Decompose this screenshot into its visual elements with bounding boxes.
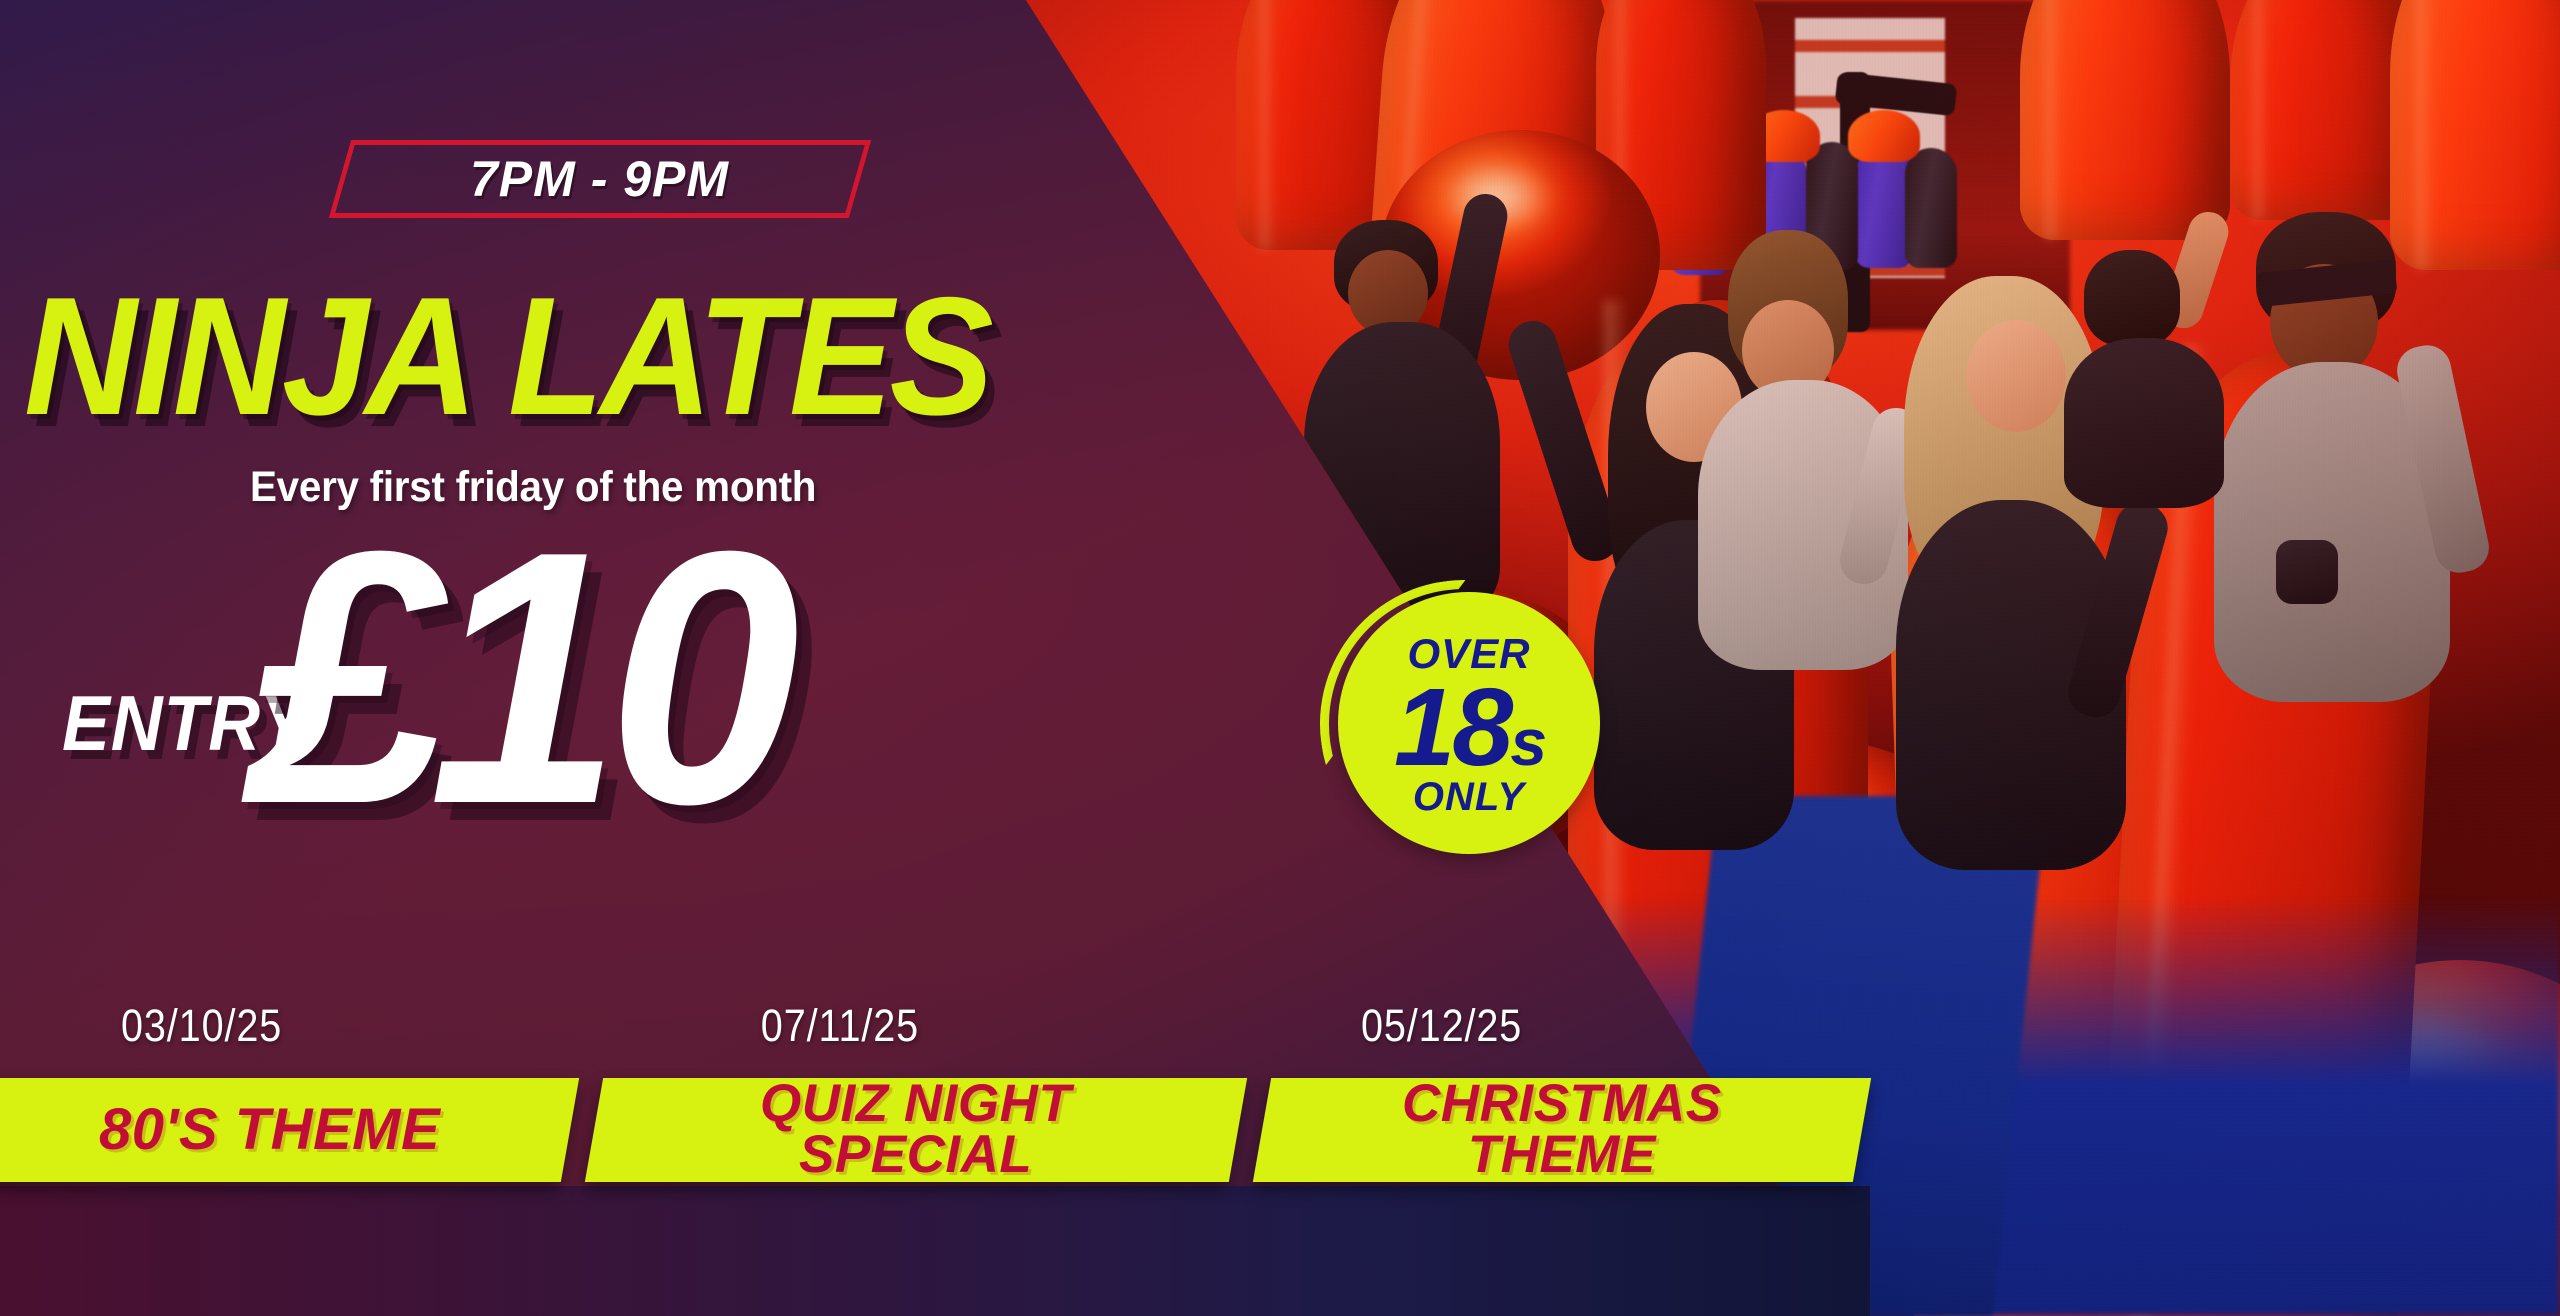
page-title: NINJA LATES: [24, 272, 990, 440]
over-18s-badge: OVER 18s ONLY: [1338, 592, 1600, 854]
ninja-lates-promo-banner: 7PM - 9PM NINJA LATES Every first friday…: [0, 0, 2560, 1316]
bottom-strip: [0, 1186, 1870, 1316]
event-date-2: 07/11/25: [761, 1000, 919, 1052]
theme-label-1: 80'S THEME: [99, 1102, 440, 1158]
event-date-1: 03/10/25: [121, 1000, 282, 1052]
theme-label-3: CHRISTMAS THEME: [1402, 1079, 1722, 1181]
event-dates-row: 03/10/25 07/11/25 05/12/25: [0, 1000, 1700, 1060]
entry-price: £10: [250, 498, 786, 858]
theme-banner-3[interactable]: CHRISTMAS THEME: [1253, 1078, 1871, 1182]
badge-age-value: 18: [1394, 666, 1510, 789]
badge-age-number: 18s: [1394, 677, 1544, 778]
person-background-raised-hands: [2060, 210, 2260, 510]
arena-orange-cone-3: [1848, 110, 1920, 162]
badge-only-label: ONLY: [1413, 777, 1525, 817]
inflatable-pillar-4: [2020, 0, 2230, 240]
time-badge: 7PM - 9PM: [329, 140, 871, 218]
theme-label-2: QUIZ NIGHT SPECIAL: [760, 1079, 1071, 1181]
badge-age-suffix: s: [1510, 705, 1544, 779]
theme-banner-2[interactable]: QUIZ NIGHT SPECIAL: [585, 1078, 1247, 1182]
event-themes-row: 80'S THEME QUIZ NIGHT SPECIAL CHRISTMAS …: [0, 1078, 1870, 1182]
time-badge-label: 7PM - 9PM: [470, 150, 729, 208]
event-date-3: 05/12/25: [1361, 1000, 1522, 1052]
badge-disc: OVER 18s ONLY: [1338, 592, 1600, 854]
theme-banner-1[interactable]: 80'S THEME: [0, 1078, 579, 1182]
